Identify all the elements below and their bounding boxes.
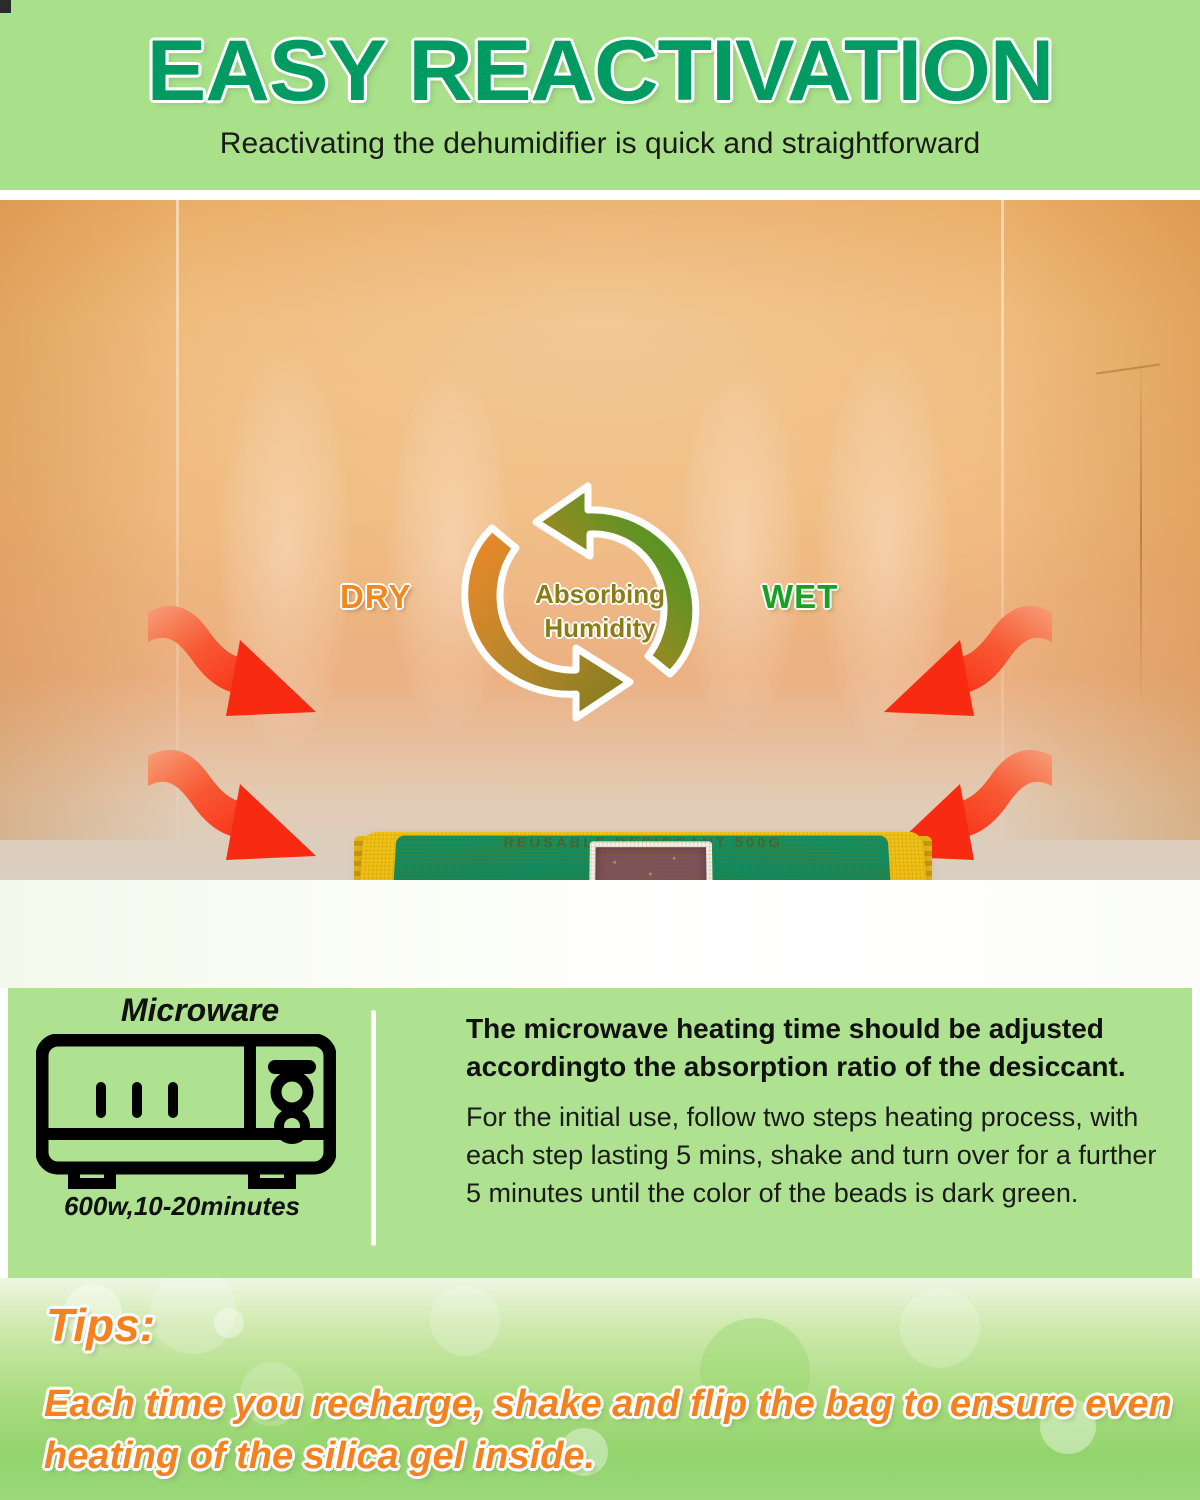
cycle-label-wet: WET [762, 578, 838, 616]
instruction-box: Microware 600w,10-20minutes The microwav… [8, 988, 1192, 1278]
recharge-band: RECHARGE WHEN BLUE DOTTURNS DARK GREEN/O… [0, 880, 1200, 988]
page-subtitle: Reactivating the dehumidifier is quick a… [0, 127, 1200, 161]
heat-arrow-left-top-icon [148, 604, 358, 754]
desiccant-bag: REUSABLE DESICCANT 500G When the beads t… [358, 822, 928, 880]
tips-title: Tips: [46, 1298, 155, 1352]
bokeh-6 [430, 1286, 500, 1356]
bag-body: REUSABLE DESICCANT 500G When the beads t… [353, 832, 934, 880]
cavity-wall-edge [1140, 350, 1142, 710]
bokeh-3 [214, 1308, 244, 1338]
heat-arrow-right-top-icon [842, 604, 1052, 754]
cycle-label-center-line2: Humidity [544, 613, 655, 643]
cycle-label-dry: DRY [340, 578, 411, 616]
power-spec-label: 600w,10-20minutes [22, 1191, 342, 1222]
cycle-label-center-line1: Absorbing [535, 579, 665, 609]
header-divider [0, 190, 1200, 200]
bokeh-9 [900, 1288, 980, 1368]
infographic-page: EASY REACTIVATION Reactivating the dehum… [0, 0, 1200, 1500]
page-title: EASY REACTIVATION [0, 22, 1200, 121]
section-divider [371, 1010, 376, 1246]
tips-body: Each time you recharge, shake and flip t… [44, 1378, 1174, 1482]
cycle-label-center: Absorbing Humidity [500, 577, 700, 645]
bag-indicator-window [589, 841, 713, 880]
instruction-bold-text: The microwave heating time should be adj… [466, 1010, 1166, 1086]
appliance-label: Microware [70, 992, 330, 1029]
instruction-body-text: For the initial use, follow two steps he… [466, 1098, 1166, 1212]
microwave-photo-panel: DRY WET Absorbing Humidity REUSABLE DESI… [0, 200, 1200, 880]
microwave-icon [36, 1034, 336, 1189]
corner-artifact-mark [0, 0, 11, 13]
heat-arrow-left-bottom-icon [148, 748, 358, 880]
header-band: EASY REACTIVATION Reactivating the dehum… [0, 0, 1200, 190]
